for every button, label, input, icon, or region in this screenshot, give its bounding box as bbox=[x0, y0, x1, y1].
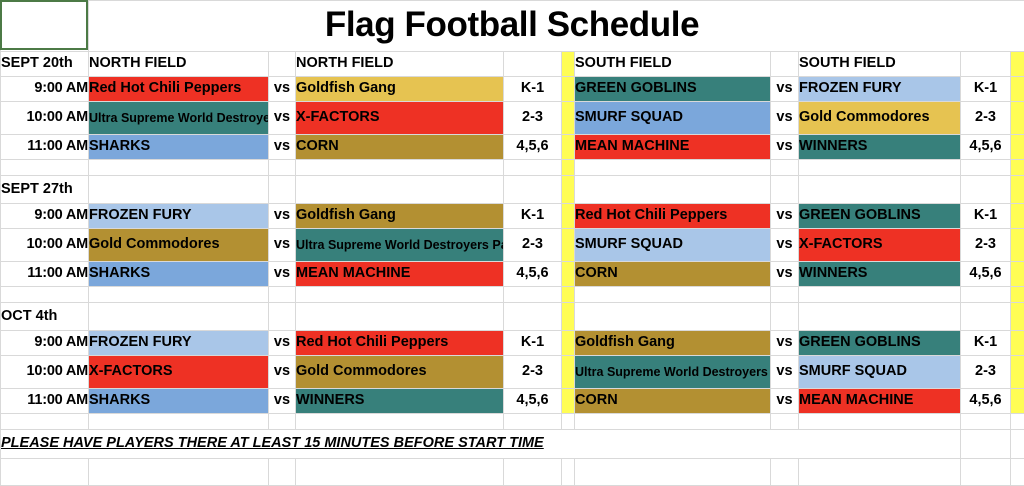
vs-label: vs bbox=[771, 102, 799, 135]
team-cell-south-a[interactable]: Goldfish Gang bbox=[575, 331, 771, 356]
yellow-separator bbox=[562, 77, 575, 102]
division-north[interactable]: 2-3 bbox=[504, 102, 562, 135]
division-north[interactable]: 2-3 bbox=[504, 229, 562, 262]
vs-label: vs bbox=[269, 77, 296, 102]
spacer-cell bbox=[296, 414, 504, 430]
team-cell-north-b[interactable]: X-FACTORS bbox=[296, 102, 504, 135]
vs-label: vs bbox=[269, 135, 296, 160]
team-cell-north-a[interactable]: FROZEN FURY bbox=[89, 204, 269, 229]
spacer-cell bbox=[89, 414, 269, 430]
team-cell-north-b[interactable]: WINNERS bbox=[296, 389, 504, 414]
spacer-cell bbox=[961, 52, 1011, 77]
spacer-cell bbox=[1, 287, 89, 303]
team-cell-north-a[interactable]: FROZEN FURY bbox=[89, 331, 269, 356]
vs-label: vs bbox=[269, 229, 296, 262]
team-cell-south-b[interactable]: WINNERS bbox=[799, 135, 961, 160]
yellow-separator bbox=[1011, 135, 1024, 160]
title-row bbox=[1, 1, 1024, 52]
game-row: 10:00 AM Gold Commodores vs Ultra Suprem… bbox=[1, 229, 1024, 262]
vs-label: vs bbox=[771, 331, 799, 356]
week-date-label[interactable]: SEPT 20th bbox=[1, 52, 89, 77]
spacer-cell bbox=[296, 176, 504, 204]
division-south[interactable]: 2-3 bbox=[961, 229, 1011, 262]
yellow-separator bbox=[562, 176, 575, 204]
week-header-row: SEPT 20th NORTH FIELD NORTH FIELD SOUTH … bbox=[1, 52, 1024, 77]
spacer-cell bbox=[771, 459, 799, 486]
spacer-cell bbox=[89, 176, 269, 204]
spacer-cell bbox=[961, 287, 1011, 303]
spacer-cell bbox=[296, 459, 504, 486]
team-cell-south-b[interactable]: GREEN GOBLINS bbox=[799, 331, 961, 356]
spacer-cell bbox=[961, 430, 1011, 459]
game-row: 11:00 AM SHARKS vs MEAN MACHINE 4,5,6 CO… bbox=[1, 262, 1024, 287]
vs-label: vs bbox=[269, 102, 296, 135]
game-row: 9:00 AM FROZEN FURY vs Red Hot Chili Pep… bbox=[1, 331, 1024, 356]
team-cell-north-a[interactable]: SHARKS bbox=[89, 135, 269, 160]
spacer-cell bbox=[504, 414, 562, 430]
team-cell-north-a[interactable]: X-FACTORS bbox=[89, 356, 269, 389]
spacer-cell bbox=[771, 176, 799, 204]
game-time[interactable]: 11:00 AM bbox=[1, 262, 89, 287]
team-cell-south-a[interactable]: Ultra Supreme World Destroyers Part 5 bbox=[575, 356, 771, 389]
spacer-cell bbox=[269, 459, 296, 486]
yellow-separator bbox=[562, 52, 575, 77]
team-cell-south-a[interactable]: Red Hot Chili Peppers bbox=[575, 204, 771, 229]
vs-label: vs bbox=[771, 135, 799, 160]
yellow-separator bbox=[1011, 262, 1024, 287]
spacer-cell bbox=[961, 303, 1011, 331]
game-time[interactable]: 10:00 AM bbox=[1, 356, 89, 389]
division-north[interactable]: 4,5,6 bbox=[504, 135, 562, 160]
game-row: 11:00 AM SHARKS vs WINNERS 4,5,6 CORN vs… bbox=[1, 389, 1024, 414]
team-cell-south-a[interactable]: MEAN MACHINE bbox=[575, 135, 771, 160]
yellow-separator bbox=[1011, 331, 1024, 356]
spacer-cell bbox=[961, 414, 1011, 430]
field-header-south-b[interactable]: SOUTH FIELD bbox=[799, 52, 961, 77]
division-south[interactable]: 4,5,6 bbox=[961, 389, 1011, 414]
vs-label: vs bbox=[771, 204, 799, 229]
game-row: 11:00 AM SHARKS vs CORN 4,5,6 MEAN MACHI… bbox=[1, 135, 1024, 160]
division-south[interactable]: 2-3 bbox=[961, 102, 1011, 135]
team-cell-south-a[interactable]: GREEN GOBLINS bbox=[575, 77, 771, 102]
vs-label: vs bbox=[771, 356, 799, 389]
vs-label: vs bbox=[269, 356, 296, 389]
vs-label: vs bbox=[269, 204, 296, 229]
spacer-cell bbox=[296, 303, 504, 331]
vs-label: vs bbox=[269, 331, 296, 356]
spacer-cell bbox=[504, 52, 562, 77]
vs-label: vs bbox=[771, 77, 799, 102]
team-cell-north-a[interactable]: Red Hot Chili Peppers bbox=[89, 77, 269, 102]
spacer-cell bbox=[575, 459, 771, 486]
spacer-cell bbox=[1, 160, 89, 176]
team-cell-south-a[interactable]: SMURF SQUAD bbox=[575, 229, 771, 262]
title-cell bbox=[89, 1, 1024, 52]
selected-cell-outline[interactable] bbox=[0, 0, 88, 50]
yellow-separator bbox=[562, 204, 575, 229]
yellow-separator bbox=[1011, 389, 1024, 414]
yellow-separator bbox=[1011, 287, 1024, 303]
spacer-cell bbox=[799, 459, 961, 486]
spacer-cell bbox=[799, 287, 961, 303]
team-cell-north-a[interactable]: SHARKS bbox=[89, 262, 269, 287]
spreadsheet-canvas: SEPT 20th NORTH FIELD NORTH FIELD SOUTH … bbox=[0, 0, 1024, 476]
team-cell-north-a[interactable]: Gold Commodores bbox=[89, 229, 269, 262]
week-header-row: OCT 4th bbox=[1, 303, 1024, 331]
spacer-cell bbox=[771, 414, 799, 430]
spacer-row bbox=[1, 414, 1024, 430]
spacer-cell bbox=[89, 287, 269, 303]
spacer-cell bbox=[799, 303, 961, 331]
team-cell-south-b[interactable]: WINNERS bbox=[799, 262, 961, 287]
spacer-cell bbox=[961, 176, 1011, 204]
vs-label: vs bbox=[771, 262, 799, 287]
team-cell-north-b[interactable]: MEAN MACHINE bbox=[296, 262, 504, 287]
yellow-separator bbox=[1011, 52, 1024, 77]
yellow-separator bbox=[562, 389, 575, 414]
team-cell-south-b[interactable]: Gold Commodores bbox=[799, 102, 961, 135]
schedule-grid: SEPT 20th NORTH FIELD NORTH FIELD SOUTH … bbox=[0, 0, 1024, 486]
yellow-separator bbox=[1011, 102, 1024, 135]
division-south[interactable]: 4,5,6 bbox=[961, 262, 1011, 287]
spacer-cell bbox=[799, 176, 961, 204]
week-date-label[interactable]: OCT 4th bbox=[1, 303, 89, 331]
game-time[interactable]: 9:00 AM bbox=[1, 331, 89, 356]
yellow-separator bbox=[562, 331, 575, 356]
game-time[interactable]: 11:00 AM bbox=[1, 389, 89, 414]
spacer-cell bbox=[1011, 430, 1024, 459]
team-cell-south-b[interactable]: X-FACTORS bbox=[799, 229, 961, 262]
spacer-cell bbox=[504, 287, 562, 303]
vs-label: vs bbox=[771, 229, 799, 262]
spacer-cell bbox=[89, 459, 269, 486]
spacer-cell bbox=[269, 303, 296, 331]
yellow-separator bbox=[562, 287, 575, 303]
footer-row: PLEASE HAVE PLAYERS THERE AT LEAST 15 MI… bbox=[1, 430, 1024, 459]
team-cell-north-a[interactable]: SHARKS bbox=[89, 389, 269, 414]
spacer-cell bbox=[1011, 414, 1024, 430]
yellow-separator bbox=[562, 262, 575, 287]
team-cell-south-a[interactable]: SMURF SQUAD bbox=[575, 102, 771, 135]
game-row: 9:00 AM Red Hot Chili Peppers vs Goldfis… bbox=[1, 77, 1024, 102]
yellow-separator bbox=[1011, 176, 1024, 204]
game-time[interactable]: 10:00 AM bbox=[1, 102, 89, 135]
vs-label: vs bbox=[269, 262, 296, 287]
division-north[interactable]: 4,5,6 bbox=[504, 389, 562, 414]
spacer-row bbox=[1, 160, 1024, 176]
field-header-south-a[interactable]: SOUTH FIELD bbox=[575, 52, 771, 77]
spacer-cell bbox=[799, 160, 961, 176]
spacer-cell bbox=[961, 160, 1011, 176]
spacer-cell bbox=[961, 459, 1011, 486]
yellow-separator bbox=[1011, 356, 1024, 389]
team-cell-north-b[interactable]: Goldfish Gang bbox=[296, 77, 504, 102]
game-row: 9:00 AM FROZEN FURY vs Goldfish Gang K-1… bbox=[1, 204, 1024, 229]
division-north[interactable]: K-1 bbox=[504, 77, 562, 102]
spacer-cell bbox=[504, 303, 562, 331]
spacer-cell bbox=[89, 303, 269, 331]
spacer-cell bbox=[269, 287, 296, 303]
division-north[interactable]: K-1 bbox=[504, 204, 562, 229]
spacer-cell bbox=[575, 160, 771, 176]
team-cell-south-b[interactable]: MEAN MACHINE bbox=[799, 389, 961, 414]
team-cell-south-b[interactable]: GREEN GOBLINS bbox=[799, 204, 961, 229]
yellow-separator bbox=[562, 356, 575, 389]
spacer-cell bbox=[504, 459, 562, 486]
spacer-cell bbox=[562, 459, 575, 486]
spacer-cell bbox=[504, 160, 562, 176]
game-row: 10:00 AM Ultra Supreme World Destroyers … bbox=[1, 102, 1024, 135]
spacer-cell bbox=[296, 287, 504, 303]
division-north[interactable]: 2-3 bbox=[504, 356, 562, 389]
spacer-cell bbox=[575, 176, 771, 204]
division-north[interactable]: K-1 bbox=[504, 331, 562, 356]
team-cell-north-b[interactable]: Ultra Supreme World Destroyers Part 5 bbox=[296, 229, 504, 262]
spacer-cell bbox=[269, 160, 296, 176]
team-cell-north-b[interactable]: Goldfish Gang bbox=[296, 204, 504, 229]
bottom-row bbox=[1, 459, 1024, 486]
spacer-row bbox=[1, 287, 1024, 303]
division-south[interactable]: K-1 bbox=[961, 331, 1011, 356]
team-cell-north-b[interactable]: CORN bbox=[296, 135, 504, 160]
footer-note[interactable]: PLEASE HAVE PLAYERS THERE AT LEAST 15 MI… bbox=[1, 430, 961, 459]
spacer-cell bbox=[771, 303, 799, 331]
week-date-label[interactable]: SEPT 27th bbox=[1, 176, 89, 204]
yellow-separator bbox=[1011, 229, 1024, 262]
spacer-cell bbox=[269, 52, 296, 77]
spacer-cell bbox=[269, 176, 296, 204]
spacer-cell bbox=[1011, 459, 1024, 486]
yellow-separator bbox=[1011, 77, 1024, 102]
game-time[interactable]: 9:00 AM bbox=[1, 204, 89, 229]
spacer-cell bbox=[1, 459, 89, 486]
yellow-separator bbox=[1011, 204, 1024, 229]
game-time[interactable]: 9:00 AM bbox=[1, 77, 89, 102]
yellow-separator bbox=[562, 229, 575, 262]
team-cell-north-a[interactable]: Ultra Supreme World Destroyers Part 5 bbox=[89, 102, 269, 135]
division-north[interactable]: 4,5,6 bbox=[504, 262, 562, 287]
spacer-cell bbox=[504, 176, 562, 204]
spacer-cell bbox=[89, 160, 269, 176]
team-cell-south-b[interactable]: FROZEN FURY bbox=[799, 77, 961, 102]
field-header-north-b[interactable]: NORTH FIELD bbox=[296, 52, 504, 77]
spacer-cell bbox=[575, 414, 771, 430]
spacer-cell bbox=[771, 287, 799, 303]
division-south[interactable]: 4,5,6 bbox=[961, 135, 1011, 160]
division-south[interactable]: K-1 bbox=[961, 77, 1011, 102]
spacer-cell bbox=[562, 414, 575, 430]
yellow-separator bbox=[1011, 303, 1024, 331]
game-time[interactable]: 10:00 AM bbox=[1, 229, 89, 262]
division-south[interactable]: 2-3 bbox=[961, 356, 1011, 389]
spacer-cell bbox=[575, 303, 771, 331]
spacer-cell bbox=[575, 287, 771, 303]
spacer-cell bbox=[296, 160, 504, 176]
yellow-separator bbox=[562, 135, 575, 160]
division-south[interactable]: K-1 bbox=[961, 204, 1011, 229]
spacer-cell bbox=[771, 52, 799, 77]
yellow-separator bbox=[562, 303, 575, 331]
yellow-separator bbox=[1011, 160, 1024, 176]
vs-label: vs bbox=[771, 389, 799, 414]
team-cell-north-b[interactable]: Gold Commodores bbox=[296, 356, 504, 389]
week-header-row: SEPT 27th bbox=[1, 176, 1024, 204]
spacer-cell bbox=[1, 414, 89, 430]
yellow-separator bbox=[562, 102, 575, 135]
spacer-cell bbox=[771, 160, 799, 176]
vs-label: vs bbox=[269, 389, 296, 414]
field-header-north-a[interactable]: NORTH FIELD bbox=[89, 52, 269, 77]
team-cell-south-a[interactable]: CORN bbox=[575, 262, 771, 287]
spacer-cell bbox=[269, 414, 296, 430]
team-cell-south-b[interactable]: SMURF SQUAD bbox=[799, 356, 961, 389]
game-time[interactable]: 11:00 AM bbox=[1, 135, 89, 160]
team-cell-south-a[interactable]: CORN bbox=[575, 389, 771, 414]
yellow-separator bbox=[562, 160, 575, 176]
game-row: 10:00 AM X-FACTORS vs Gold Commodores 2-… bbox=[1, 356, 1024, 389]
team-cell-north-b[interactable]: Red Hot Chili Peppers bbox=[296, 331, 504, 356]
spacer-cell bbox=[799, 414, 961, 430]
